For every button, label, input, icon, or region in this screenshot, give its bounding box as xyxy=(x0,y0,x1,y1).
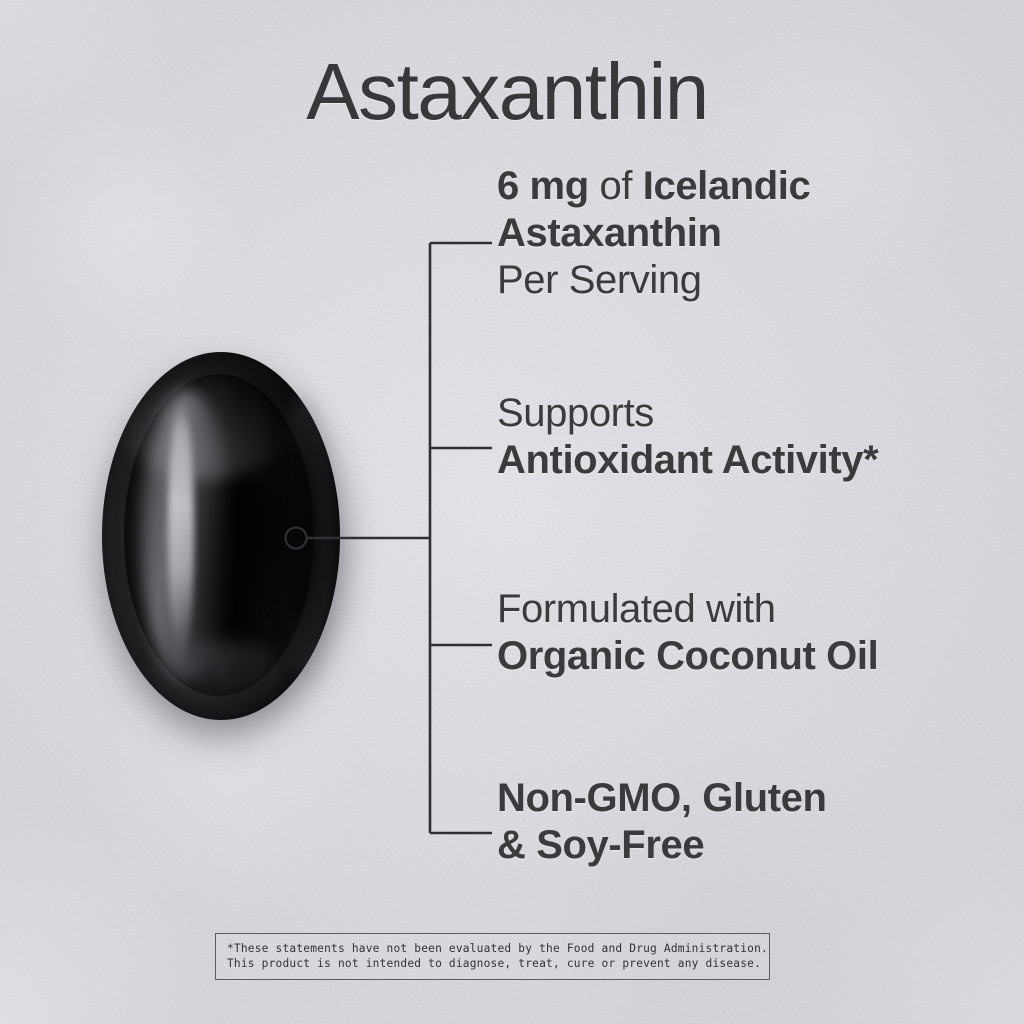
benefit-item-dosage: 6 mg of IcelandicAstaxanthinPer Serving xyxy=(497,163,810,304)
benefit-line: Per Serving xyxy=(497,257,810,304)
benefit-item-coconut-oil: Formulated withOrganic Coconut Oil xyxy=(497,586,878,680)
benefit-text-run: Icelandic xyxy=(643,164,811,208)
benefit-text-run: Formulated with xyxy=(497,587,776,631)
benefit-text-run: Supports xyxy=(497,391,654,435)
benefit-text-run: & Soy-Free xyxy=(497,823,704,867)
benefit-text-run: Per Serving xyxy=(497,258,702,302)
product-infographic: Astaxanthin xyxy=(0,0,1024,1024)
benefit-text-run: of xyxy=(599,164,642,208)
disclaimer-line: *These statements have not been evaluate… xyxy=(227,941,758,956)
benefit-line: Organic Coconut Oil xyxy=(497,633,878,680)
disclaimer-line: This product is not intended to diagnose… xyxy=(227,956,758,971)
benefit-text-run: 6 mg xyxy=(497,164,599,208)
callout-bracket xyxy=(0,0,1024,1024)
benefit-line: Antioxidant Activity* xyxy=(497,437,878,484)
benefit-line: 6 mg of Icelandic xyxy=(497,163,810,210)
benefit-item-antioxidant: SupportsAntioxidant Activity* xyxy=(497,390,878,484)
benefit-line: Astaxanthin xyxy=(497,210,810,257)
benefit-line: Supports xyxy=(497,390,878,437)
benefit-item-non-gmo: Non-GMO, Gluten& Soy-Free xyxy=(497,775,827,869)
benefit-text-run: Astaxanthin xyxy=(497,211,722,255)
fda-disclaimer-box: *These statements have not been evaluate… xyxy=(215,933,770,980)
benefit-line: Formulated with xyxy=(497,586,878,633)
benefit-text-run: Organic Coconut Oil xyxy=(497,634,878,678)
circle-marker-icon xyxy=(286,528,307,549)
benefit-line: & Soy-Free xyxy=(497,822,827,869)
benefit-text-run: Antioxidant Activity* xyxy=(497,438,878,482)
benefit-text-run: Non-GMO, Gluten xyxy=(497,776,827,820)
benefit-line: Non-GMO, Gluten xyxy=(497,775,827,822)
